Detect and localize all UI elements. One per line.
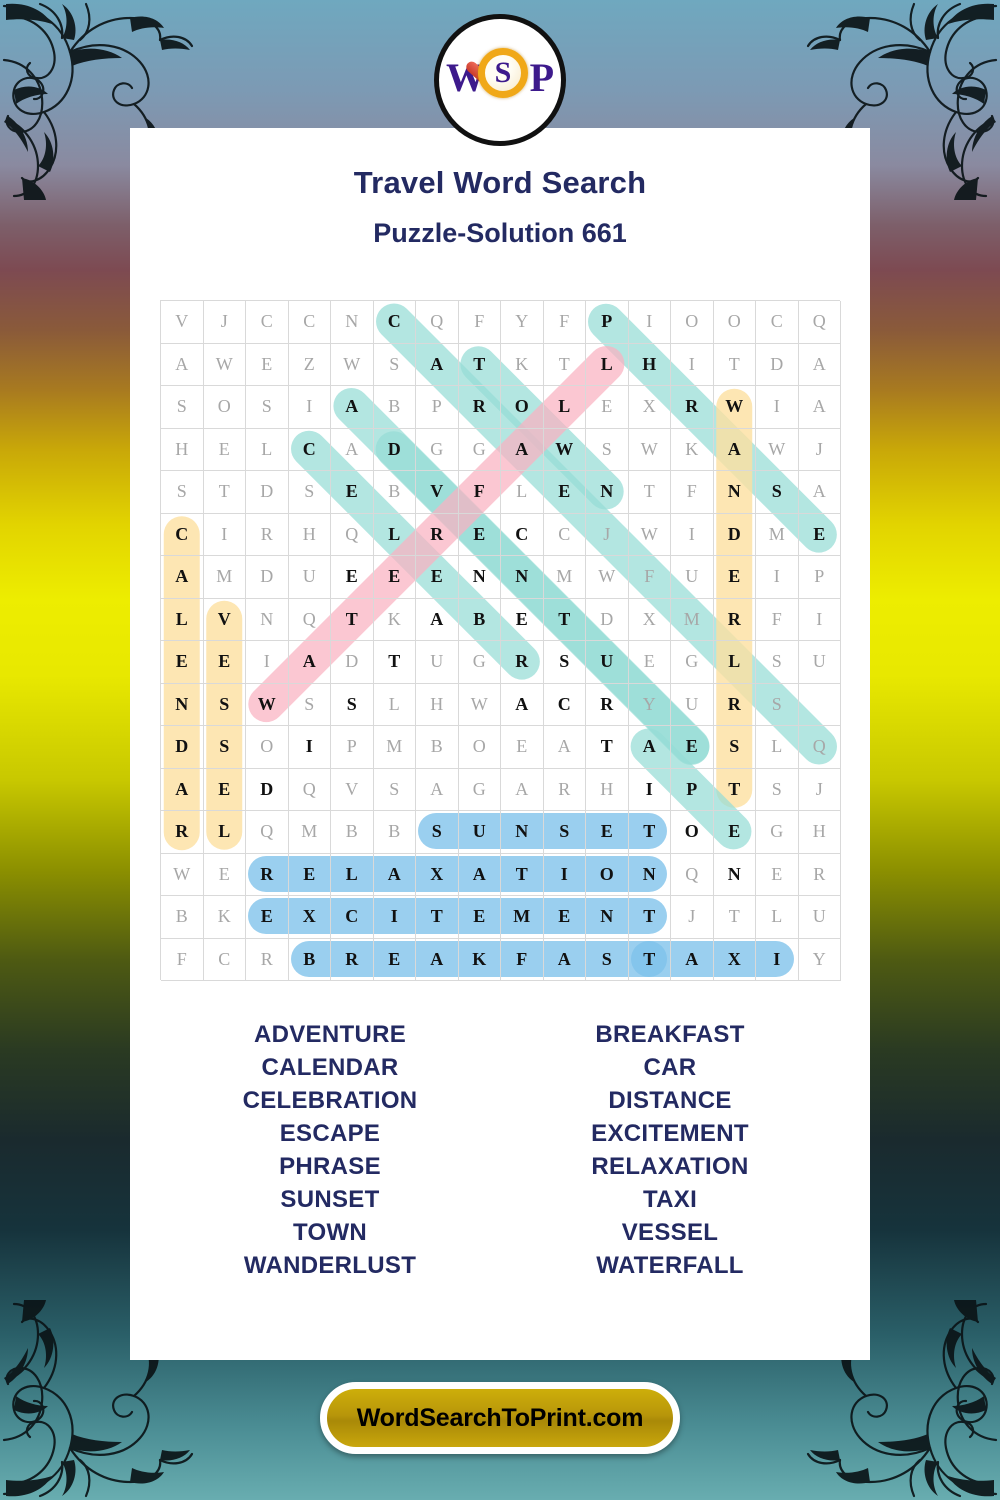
grid-cell[interactable]: N bbox=[459, 556, 502, 599]
grid-cell[interactable]: U bbox=[416, 641, 459, 684]
grid-cell[interactable]: A bbox=[544, 939, 587, 982]
grid-cell[interactable]: K bbox=[459, 939, 502, 982]
grid-cell[interactable]: E bbox=[544, 471, 587, 514]
grid-cell[interactable]: E bbox=[714, 811, 757, 854]
page-subtitle: Puzzle-Solution 661 bbox=[0, 218, 1000, 249]
grid-cell[interactable]: Y bbox=[629, 684, 672, 727]
grid-cell[interactable]: S bbox=[204, 726, 247, 769]
grid-cell[interactable]: Q bbox=[799, 301, 842, 344]
grid-cell[interactable]: R bbox=[586, 684, 629, 727]
grid-cell[interactable]: Z bbox=[289, 344, 332, 387]
grid-cell[interactable]: D bbox=[756, 344, 799, 387]
grid-cell[interactable]: W bbox=[161, 854, 204, 897]
grid-cell[interactable]: R bbox=[501, 641, 544, 684]
grid-cell[interactable]: R bbox=[246, 854, 289, 897]
grid-cell[interactable]: D bbox=[331, 641, 374, 684]
grid-cell[interactable]: O bbox=[671, 301, 714, 344]
grid-cell[interactable]: A bbox=[799, 344, 842, 387]
grid-cell[interactable]: Q bbox=[671, 854, 714, 897]
grid-cell[interactable]: B bbox=[374, 811, 417, 854]
grid-cell[interactable]: F bbox=[544, 301, 587, 344]
grid-cell[interactable]: M bbox=[544, 556, 587, 599]
grid-cell[interactable]: E bbox=[629, 641, 672, 684]
word-search-grid-wrapper: VJCCNCQFYFPIOOCQAWEZWSATKTLHITDASOSIABPR… bbox=[160, 300, 840, 980]
word-list-item[interactable]: WANDERLUST bbox=[160, 1249, 500, 1282]
grid-cell[interactable]: T bbox=[714, 896, 757, 939]
grid-cell[interactable]: S bbox=[374, 344, 417, 387]
grid-cell[interactable]: P bbox=[799, 556, 842, 599]
grid-cell[interactable]: I bbox=[671, 514, 714, 557]
grid-cell[interactable]: I bbox=[204, 514, 247, 557]
grid-cell[interactable]: J bbox=[799, 429, 842, 472]
grid-cell[interactable]: R bbox=[714, 684, 757, 727]
grid-cell[interactable]: N bbox=[714, 471, 757, 514]
grid-cell[interactable]: I bbox=[671, 344, 714, 387]
grid-cell[interactable]: P bbox=[586, 301, 629, 344]
grid-cell[interactable]: A bbox=[629, 726, 672, 769]
grid-cell[interactable]: E bbox=[374, 556, 417, 599]
grid-cell[interactable]: R bbox=[544, 769, 587, 812]
grid-cell[interactable]: A bbox=[501, 769, 544, 812]
grid-cell[interactable]: E bbox=[586, 811, 629, 854]
grid-cell[interactable]: C bbox=[204, 939, 247, 982]
grid-cell[interactable]: H bbox=[586, 769, 629, 812]
grid-cell[interactable]: I bbox=[756, 556, 799, 599]
grid-cell[interactable]: E bbox=[459, 514, 502, 557]
grid-cell[interactable]: N bbox=[586, 471, 629, 514]
word-list-item[interactable]: VESSEL bbox=[500, 1216, 840, 1249]
grid-cell[interactable]: F bbox=[671, 471, 714, 514]
grid-cell[interactable]: A bbox=[544, 726, 587, 769]
grid-cell[interactable]: T bbox=[416, 896, 459, 939]
grid-cell[interactable]: H bbox=[161, 429, 204, 472]
word-list: ADVENTURECALENDARCELEBRATIONESCAPEPHRASE… bbox=[160, 1018, 840, 1282]
grid-cell[interactable]: S bbox=[374, 769, 417, 812]
grid-cell[interactable]: E bbox=[204, 854, 247, 897]
grid-cell[interactable]: S bbox=[289, 684, 332, 727]
grid-cell[interactable]: S bbox=[161, 471, 204, 514]
word-list-item[interactable]: ESCAPE bbox=[160, 1117, 500, 1150]
grid-cell[interactable]: A bbox=[416, 344, 459, 387]
word-list-item[interactable]: BREAKFAST bbox=[500, 1018, 840, 1051]
grid-cell[interactable]: E bbox=[331, 471, 374, 514]
grid-cell[interactable]: X bbox=[629, 599, 672, 642]
website-button[interactable]: WordSearchToPrint.com bbox=[320, 1382, 680, 1454]
grid-cell[interactable]: E bbox=[501, 726, 544, 769]
grid-cell[interactable]: B bbox=[289, 939, 332, 982]
grid-cell[interactable]: T bbox=[544, 599, 587, 642]
word-list-column-left: ADVENTURECALENDARCELEBRATIONESCAPEPHRASE… bbox=[160, 1018, 500, 1282]
word-list-item[interactable]: TAXI bbox=[500, 1183, 840, 1216]
grid-cell[interactable]: R bbox=[331, 939, 374, 982]
grid-cell[interactable]: U bbox=[289, 556, 332, 599]
grid-cell[interactable]: N bbox=[501, 811, 544, 854]
grid-cell[interactable]: O bbox=[586, 854, 629, 897]
grid-cell[interactable]: C bbox=[331, 896, 374, 939]
logo-letter-s: S bbox=[478, 48, 528, 98]
grid-cell[interactable]: Q bbox=[246, 811, 289, 854]
grid-cell[interactable]: G bbox=[416, 429, 459, 472]
grid-cell[interactable]: O bbox=[204, 386, 247, 429]
grid-cell[interactable]: E bbox=[501, 599, 544, 642]
grid-cell[interactable]: S bbox=[246, 386, 289, 429]
word-list-item[interactable]: DISTANCE bbox=[500, 1084, 840, 1117]
grid-cell[interactable]: U bbox=[459, 811, 502, 854]
grid-cell[interactable]: S bbox=[289, 471, 332, 514]
grid-cell[interactable]: S bbox=[544, 811, 587, 854]
grid-cell[interactable]: E bbox=[204, 769, 247, 812]
grid-cell[interactable]: S bbox=[586, 939, 629, 982]
grid-cell[interactable]: T bbox=[544, 344, 587, 387]
word-list-item[interactable]: TOWN bbox=[160, 1216, 500, 1249]
grid-cell[interactable]: M bbox=[756, 514, 799, 557]
grid-cell[interactable]: L bbox=[161, 599, 204, 642]
grid-cell[interactable]: X bbox=[416, 854, 459, 897]
grid-cell[interactable]: L bbox=[374, 684, 417, 727]
grid-cell[interactable]: D bbox=[246, 556, 289, 599]
grid-cell[interactable]: C bbox=[161, 514, 204, 557]
grid-cell[interactable]: R bbox=[671, 386, 714, 429]
grid-cell[interactable]: S bbox=[586, 429, 629, 472]
grid-cell[interactable]: V bbox=[161, 301, 204, 344]
grid-cell[interactable]: E bbox=[714, 556, 757, 599]
grid-cell[interactable]: A bbox=[799, 386, 842, 429]
grid-cell[interactable]: G bbox=[459, 769, 502, 812]
grid-cell[interactable]: U bbox=[799, 641, 842, 684]
grid-cell[interactable]: C bbox=[544, 684, 587, 727]
grid-cell[interactable]: T bbox=[714, 769, 757, 812]
grid-cell[interactable]: R bbox=[799, 854, 842, 897]
grid-cell[interactable]: E bbox=[416, 556, 459, 599]
grid-cell[interactable]: E bbox=[246, 896, 289, 939]
word-list-item[interactable]: WATERFALL bbox=[500, 1249, 840, 1282]
grid-cell[interactable]: C bbox=[289, 429, 332, 472]
grid-cell[interactable]: K bbox=[374, 599, 417, 642]
grid-cell[interactable]: I bbox=[544, 854, 587, 897]
grid-cell[interactable]: T bbox=[459, 344, 502, 387]
grid-cell[interactable]: M bbox=[671, 599, 714, 642]
grid-cell[interactable]: G bbox=[459, 641, 502, 684]
grid-cell[interactable]: S bbox=[544, 641, 587, 684]
grid-cell[interactable]: B bbox=[161, 896, 204, 939]
grid-cell[interactable]: C bbox=[544, 514, 587, 557]
grid-cell[interactable]: A bbox=[331, 386, 374, 429]
grid-cell[interactable]: X bbox=[714, 939, 757, 982]
grid-cell[interactable]: B bbox=[374, 386, 417, 429]
grid-cell[interactable]: B bbox=[459, 599, 502, 642]
grid-cell[interactable]: U bbox=[586, 641, 629, 684]
word-list-item[interactable]: CAR bbox=[500, 1051, 840, 1084]
grid-cell[interactable]: A bbox=[671, 939, 714, 982]
grid-cell[interactable]: W bbox=[246, 684, 289, 727]
word-list-item[interactable]: CELEBRATION bbox=[160, 1084, 500, 1117]
grid-cell[interactable]: D bbox=[161, 726, 204, 769]
grid-cell[interactable]: S bbox=[161, 386, 204, 429]
grid-cell[interactable]: G bbox=[671, 641, 714, 684]
grid-cell[interactable]: K bbox=[501, 344, 544, 387]
grid-cell[interactable]: L bbox=[756, 896, 799, 939]
wsp-logo: W P S bbox=[434, 14, 566, 146]
grid-cell[interactable]: C bbox=[374, 301, 417, 344]
grid-cell[interactable]: F bbox=[501, 939, 544, 982]
grid-cell[interactable]: H bbox=[629, 344, 672, 387]
grid-cell[interactable]: S bbox=[756, 471, 799, 514]
grid-cell[interactable]: V bbox=[331, 769, 374, 812]
grid-cell[interactable]: N bbox=[246, 599, 289, 642]
grid-cell[interactable]: O bbox=[501, 386, 544, 429]
grid-cell[interactable]: L bbox=[374, 514, 417, 557]
grid-cell[interactable]: U bbox=[671, 556, 714, 599]
grid-cell[interactable]: L bbox=[501, 471, 544, 514]
grid-cell[interactable]: M bbox=[501, 896, 544, 939]
grid-cell[interactable]: K bbox=[671, 429, 714, 472]
grid-cell[interactable]: T bbox=[331, 599, 374, 642]
grid-cell[interactable]: W bbox=[331, 344, 374, 387]
grid-cell[interactable]: G bbox=[459, 429, 502, 472]
word-list-item[interactable]: CALENDAR bbox=[160, 1051, 500, 1084]
grid-cell[interactable]: E bbox=[161, 641, 204, 684]
grid-cell[interactable]: R bbox=[714, 599, 757, 642]
grid-cell[interactable]: B bbox=[331, 811, 374, 854]
grid-cell[interactable]: E bbox=[204, 641, 247, 684]
grid-cell[interactable]: E bbox=[204, 429, 247, 472]
grid-cell[interactable]: A bbox=[501, 429, 544, 472]
grid-cell[interactable]: L bbox=[586, 344, 629, 387]
grid-cell[interactable]: I bbox=[629, 301, 672, 344]
grid-cell[interactable]: T bbox=[714, 344, 757, 387]
word-list-column-right: BREAKFASTCARDISTANCEEXCITEMENTRELAXATION… bbox=[500, 1018, 840, 1282]
grid-cell[interactable]: A bbox=[161, 769, 204, 812]
grid-cell[interactable]: L bbox=[331, 854, 374, 897]
grid-cell[interactable]: W bbox=[544, 429, 587, 472]
grid-cell[interactable]: B bbox=[416, 726, 459, 769]
grid-cell[interactable]: O bbox=[246, 726, 289, 769]
website-button-label: WordSearchToPrint.com bbox=[357, 1404, 644, 1433]
grid-cell[interactable]: S bbox=[416, 811, 459, 854]
grid-cell[interactable]: F bbox=[756, 599, 799, 642]
grid-cell[interactable]: S bbox=[756, 641, 799, 684]
grid-cell[interactable]: Q bbox=[289, 599, 332, 642]
grid-cell[interactable]: J bbox=[671, 896, 714, 939]
grid-cell[interactable]: F bbox=[629, 556, 672, 599]
grid-cell[interactable]: I bbox=[756, 939, 799, 982]
grid-cell[interactable]: T bbox=[586, 726, 629, 769]
grid-cell[interactable]: B bbox=[374, 471, 417, 514]
grid-cell[interactable]: O bbox=[459, 726, 502, 769]
grid-cell[interactable]: M bbox=[289, 811, 332, 854]
word-list-item[interactable]: RELAXATION bbox=[500, 1150, 840, 1183]
word-list-item[interactable]: ADVENTURE bbox=[160, 1018, 500, 1051]
grid-cell[interactable]: X bbox=[289, 896, 332, 939]
grid-cell[interactable]: W bbox=[204, 344, 247, 387]
grid-cell[interactable]: T bbox=[501, 854, 544, 897]
grid-cell[interactable]: N bbox=[586, 896, 629, 939]
word-list-item[interactable]: EXCITEMENT bbox=[500, 1117, 840, 1150]
grid-cell[interactable]: A bbox=[416, 599, 459, 642]
grid-cell[interactable]: P bbox=[671, 769, 714, 812]
grid-cell[interactable]: J bbox=[204, 301, 247, 344]
grid-cell[interactable]: Q bbox=[289, 769, 332, 812]
grid-cell[interactable]: V bbox=[416, 471, 459, 514]
grid-cell[interactable]: R bbox=[246, 514, 289, 557]
grid-cell[interactable]: T bbox=[204, 471, 247, 514]
grid-cell[interactable]: X bbox=[629, 386, 672, 429]
grid-cell[interactable]: P bbox=[416, 386, 459, 429]
grid-cell[interactable]: R bbox=[416, 514, 459, 557]
grid-cell[interactable]: R bbox=[459, 386, 502, 429]
grid-cell[interactable]: L bbox=[544, 386, 587, 429]
grid-cell[interactable]: H bbox=[416, 684, 459, 727]
grid-cell[interactable]: L bbox=[246, 429, 289, 472]
grid-cell[interactable]: H bbox=[289, 514, 332, 557]
grid-cell[interactable]: P bbox=[331, 726, 374, 769]
grid-cell[interactable]: E bbox=[289, 854, 332, 897]
grid-cell[interactable]: H bbox=[799, 811, 842, 854]
grid-cell[interactable]: E bbox=[671, 726, 714, 769]
grid-cell[interactable]: A bbox=[161, 556, 204, 599]
grid-cell[interactable]: A bbox=[501, 684, 544, 727]
word-list-item[interactable]: SUNSET bbox=[160, 1183, 500, 1216]
grid-cell[interactable]: O bbox=[671, 811, 714, 854]
grid-cell[interactable]: Y bbox=[799, 939, 842, 982]
grid-cell[interactable]: T bbox=[629, 811, 672, 854]
page-title: Travel Word Search bbox=[0, 165, 1000, 201]
grid-cell[interactable]: I bbox=[799, 599, 842, 642]
grid-cell[interactable]: T bbox=[374, 641, 417, 684]
grid-cell[interactable]: D bbox=[714, 514, 757, 557]
grid-cell[interactable]: E bbox=[586, 386, 629, 429]
grid-cell[interactable]: E bbox=[374, 939, 417, 982]
grid-cell[interactable]: J bbox=[586, 514, 629, 557]
grid-cell[interactable]: T bbox=[629, 939, 672, 982]
grid-cell[interactable]: Y bbox=[501, 301, 544, 344]
grid-cell[interactable]: A bbox=[799, 471, 842, 514]
grid-cell[interactable]: A bbox=[374, 854, 417, 897]
grid-cell[interactable]: I bbox=[246, 641, 289, 684]
grid-cell[interactable]: S bbox=[756, 684, 799, 727]
grid-cell[interactable]: A bbox=[416, 769, 459, 812]
grid-cell[interactable]: C bbox=[756, 301, 799, 344]
grid-cell[interactable]: G bbox=[756, 811, 799, 854]
grid-cell[interactable]: S bbox=[756, 769, 799, 812]
grid-cell[interactable]: A bbox=[331, 429, 374, 472]
grid-cell[interactable]: S bbox=[204, 684, 247, 727]
grid-cell[interactable]: N bbox=[501, 556, 544, 599]
grid-cell[interactable]: C bbox=[501, 514, 544, 557]
grid-cell[interactable]: I bbox=[374, 896, 417, 939]
grid-cell[interactable]: W bbox=[586, 556, 629, 599]
grid-cell[interactable]: M bbox=[374, 726, 417, 769]
grid-cell[interactable]: E bbox=[756, 854, 799, 897]
grid-cell[interactable]: S bbox=[714, 726, 757, 769]
word-search-grid[interactable]: VJCCNCQFYFPIOOCQAWEZWSATKTLHITDASOSIABPR… bbox=[160, 300, 840, 980]
grid-cell[interactable]: O bbox=[714, 301, 757, 344]
grid-cell[interactable]: E bbox=[799, 514, 842, 557]
grid-cell[interactable]: A bbox=[714, 429, 757, 472]
grid-cell[interactable]: W bbox=[459, 684, 502, 727]
word-list-item[interactable]: PHRASE bbox=[160, 1150, 500, 1183]
grid-cell[interactable]: Q bbox=[799, 726, 842, 769]
grid-cell[interactable]: R bbox=[246, 939, 289, 982]
grid-cell[interactable]: N bbox=[714, 854, 757, 897]
grid-cell[interactable]: U bbox=[799, 896, 842, 939]
grid-cell[interactable]: A bbox=[161, 344, 204, 387]
grid-cell[interactable]: K bbox=[204, 896, 247, 939]
grid-cell[interactable]: D bbox=[246, 769, 289, 812]
grid-cell[interactable]: N bbox=[161, 684, 204, 727]
grid-cell[interactable]: D bbox=[586, 599, 629, 642]
grid-cell[interactable]: I bbox=[756, 386, 799, 429]
grid-cell[interactable]: N bbox=[629, 854, 672, 897]
grid-cell[interactable]: E bbox=[331, 556, 374, 599]
grid-cell[interactable]: E bbox=[246, 344, 289, 387]
grid-cell[interactable]: D bbox=[374, 429, 417, 472]
grid-cell[interactable]: T bbox=[629, 471, 672, 514]
grid-cell[interactable]: F bbox=[459, 301, 502, 344]
grid-cell[interactable]: F bbox=[459, 471, 502, 514]
grid-cell[interactable]: A bbox=[416, 939, 459, 982]
grid-cell[interactable]: E bbox=[459, 896, 502, 939]
grid-cell[interactable]: W bbox=[714, 386, 757, 429]
grid-cell[interactable]: A bbox=[289, 641, 332, 684]
grid-cell[interactable]: A bbox=[459, 854, 502, 897]
grid-cell[interactable]: J bbox=[799, 769, 842, 812]
grid-cell[interactable] bbox=[799, 684, 842, 727]
grid-cell[interactable]: I bbox=[629, 769, 672, 812]
grid-cell[interactable]: W bbox=[629, 429, 672, 472]
grid-cell[interactable]: L bbox=[756, 726, 799, 769]
grid-cell[interactable]: I bbox=[289, 386, 332, 429]
grid-cell[interactable]: W bbox=[629, 514, 672, 557]
grid-cell[interactable]: M bbox=[204, 556, 247, 599]
grid-cell[interactable]: V bbox=[204, 599, 247, 642]
grid-cell[interactable]: Q bbox=[331, 514, 374, 557]
grid-cell[interactable]: C bbox=[289, 301, 332, 344]
grid-cell[interactable]: I bbox=[289, 726, 332, 769]
grid-cell[interactable]: T bbox=[629, 896, 672, 939]
grid-cell[interactable]: U bbox=[671, 684, 714, 727]
grid-cell[interactable]: F bbox=[161, 939, 204, 982]
grid-cell[interactable]: C bbox=[246, 301, 289, 344]
grid-cell[interactable]: L bbox=[714, 641, 757, 684]
logo-letter-p: P bbox=[530, 58, 554, 98]
grid-cell[interactable]: Q bbox=[416, 301, 459, 344]
grid-cell[interactable]: W bbox=[756, 429, 799, 472]
grid-cell[interactable]: D bbox=[246, 471, 289, 514]
magnifying-glass-icon: S bbox=[478, 48, 528, 98]
grid-cell[interactable]: N bbox=[331, 301, 374, 344]
grid-cell[interactable]: R bbox=[161, 811, 204, 854]
grid-cell[interactable]: E bbox=[544, 896, 587, 939]
grid-cell[interactable]: S bbox=[331, 684, 374, 727]
grid-cell[interactable]: L bbox=[204, 811, 247, 854]
